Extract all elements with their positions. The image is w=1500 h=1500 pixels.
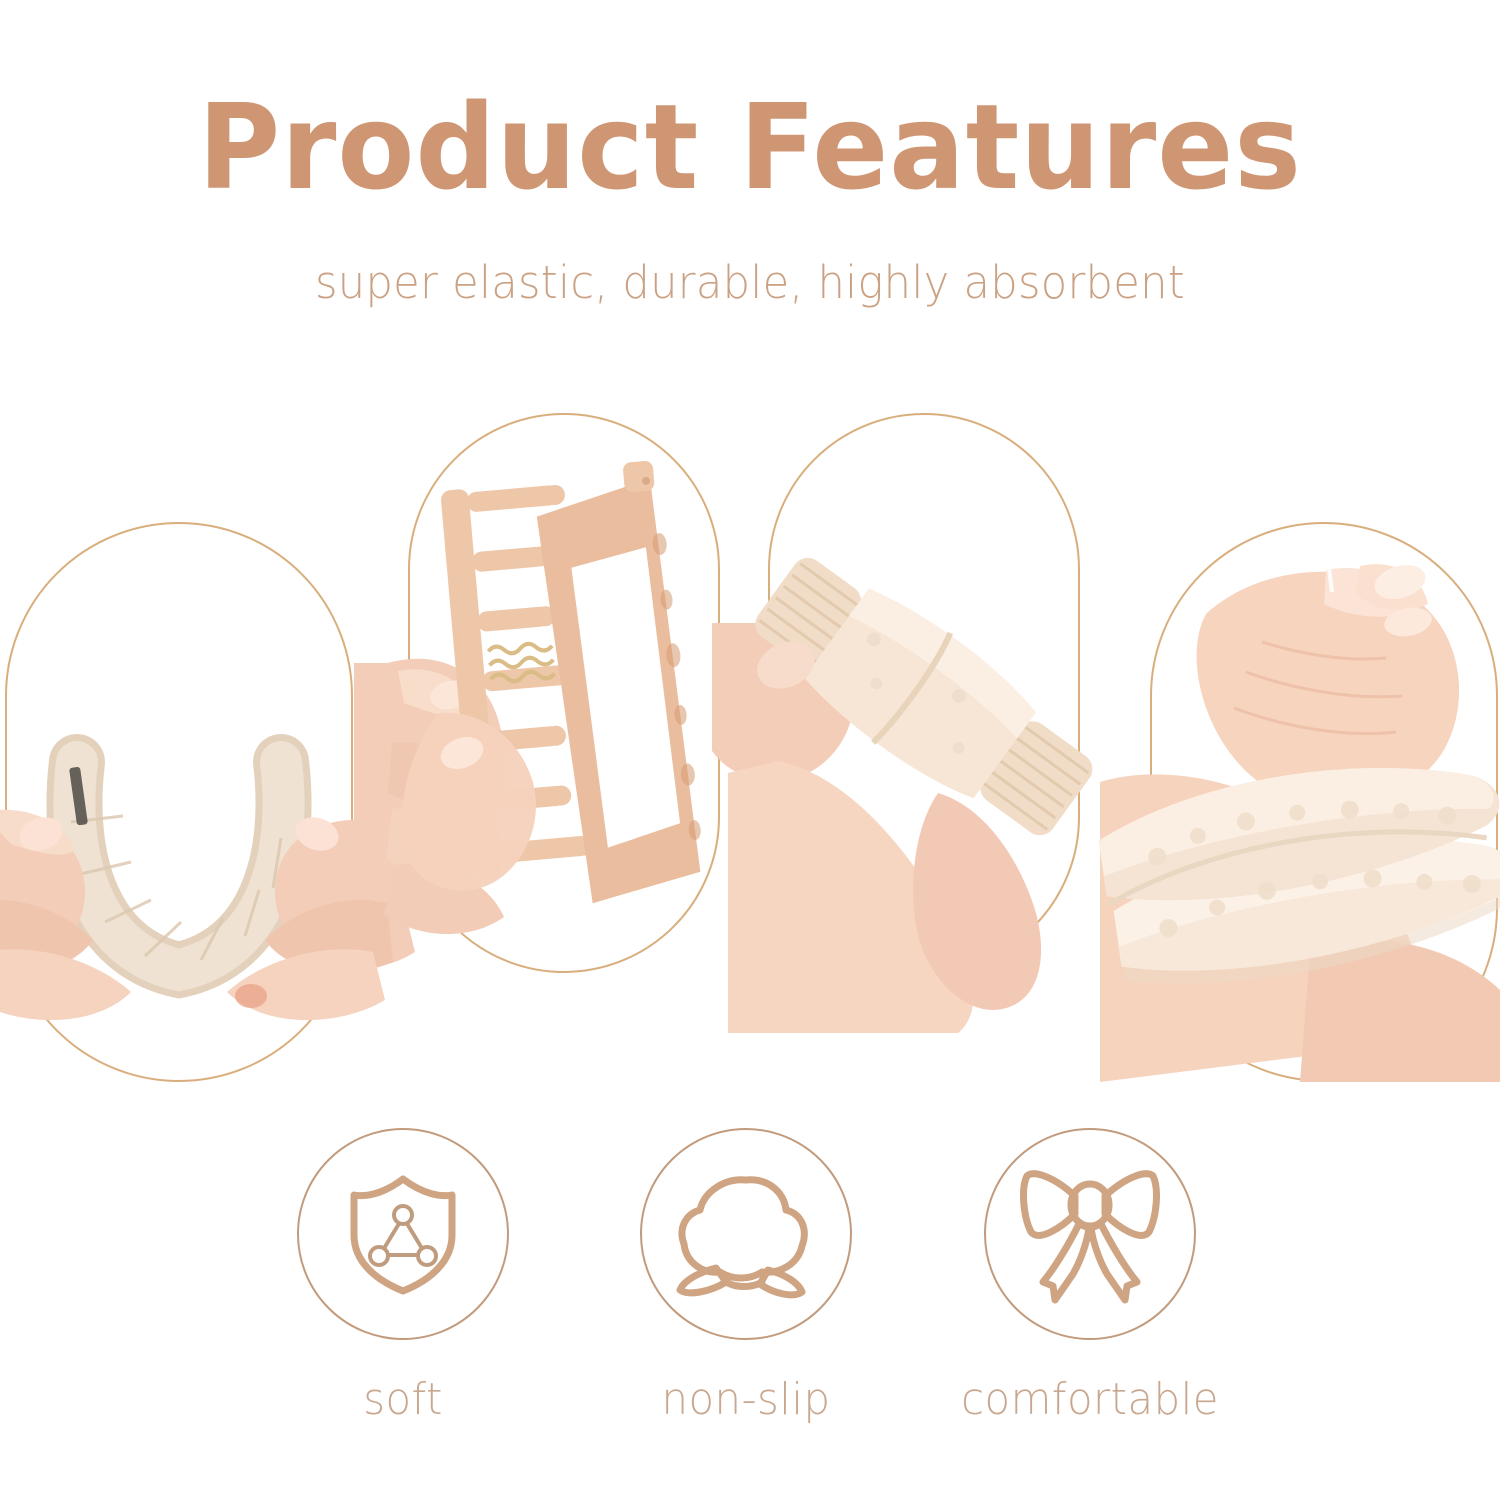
product-features-infographic: Product Features super elastic, durable,… bbox=[0, 0, 1500, 1500]
photo-hands-stretching-headband bbox=[5, 522, 353, 1082]
feature-icon-row: soft non-slip bbox=[0, 1120, 1500, 1500]
gallery-panel-2 bbox=[408, 413, 720, 973]
feature-circle-1 bbox=[297, 1128, 509, 1340]
gallery-panel-3 bbox=[768, 413, 1080, 973]
feature-label-comfortable: comfortable bbox=[948, 1374, 1233, 1425]
feature-label-soft: soft bbox=[261, 1374, 546, 1425]
ribbon-bow-icon bbox=[1017, 1162, 1163, 1306]
gallery-panel-1 bbox=[5, 522, 353, 1082]
gallery-panel-4 bbox=[1150, 522, 1498, 1082]
shield-molecule-icon bbox=[338, 1169, 468, 1299]
feature-item-comfortable: comfortable bbox=[940, 1128, 1240, 1425]
photo-wrist-wearing-two-wristbands bbox=[1150, 522, 1498, 1082]
feature-item-soft: soft bbox=[253, 1128, 553, 1425]
photo-hand-stretching-wristband bbox=[768, 413, 1080, 973]
feature-label-non-slip: non-slip bbox=[604, 1374, 889, 1425]
scrunchie-puff-icon bbox=[676, 1168, 816, 1300]
feature-item-non-slip: non-slip bbox=[596, 1128, 896, 1425]
product-gallery bbox=[0, 0, 1500, 1120]
photo-hand-holding-hair-claw-clip bbox=[408, 413, 720, 973]
feature-circle-2 bbox=[640, 1128, 852, 1340]
feature-circle-3 bbox=[984, 1128, 1196, 1340]
